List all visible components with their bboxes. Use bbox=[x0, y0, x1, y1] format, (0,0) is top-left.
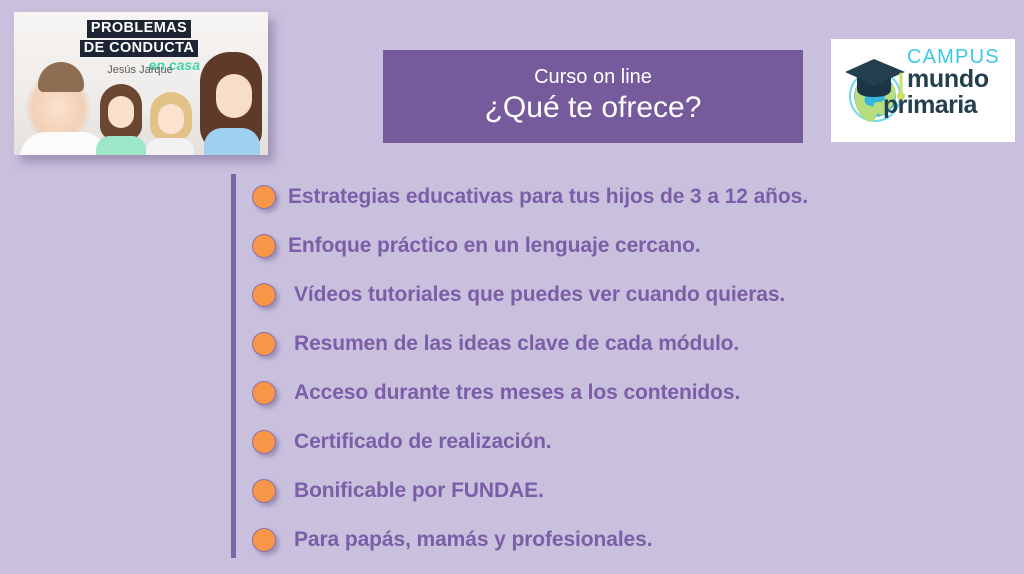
list-item: Estrategias educativas para tus hijos de… bbox=[252, 172, 1012, 221]
title-banner: Curso on line ¿Qué te ofrece? bbox=[383, 50, 803, 143]
photo-girl-top bbox=[96, 136, 146, 155]
photo-mother-top bbox=[204, 128, 260, 155]
list-item-label: Vídeos tutoriales que puedes ver cuando … bbox=[288, 283, 785, 307]
photo-mother-face bbox=[216, 74, 252, 118]
list-item-label: Estrategias educativas para tus hijos de… bbox=[288, 185, 808, 209]
photo-girl-face bbox=[108, 96, 134, 128]
slide-canvas: PROBLEMAS DE CONDUCTA en casa Jesús Jarq… bbox=[0, 0, 1024, 574]
photo-toddler-top bbox=[146, 138, 194, 155]
list-item: Certificado de realización. bbox=[252, 417, 1012, 466]
cover-author: Jesús Jarque bbox=[80, 64, 200, 76]
cover-title-line1: PROBLEMAS bbox=[87, 20, 191, 38]
list-item: Bonificable por FUNDAE. bbox=[252, 466, 1012, 515]
campus-mundo-primaria-logo: CAMPUS mundo primaria bbox=[831, 39, 1015, 142]
logo-campus-text: CAMPUS bbox=[907, 47, 1015, 67]
list-item: Para papás, mamás y profesionales. bbox=[252, 515, 1012, 564]
orange-circle-bullet-icon bbox=[252, 528, 276, 552]
orange-circle-bullet-icon bbox=[252, 185, 276, 209]
list-item: Resumen de las ideas clave de cada módul… bbox=[252, 319, 1012, 368]
list-item-label: Certificado de realización. bbox=[288, 430, 552, 454]
photo-toddler-face bbox=[158, 104, 184, 134]
orange-circle-bullet-icon bbox=[252, 479, 276, 503]
list-item: Enfoque práctico en un lenguaje cercano. bbox=[252, 221, 1012, 270]
orange-circle-bullet-icon bbox=[252, 283, 276, 307]
logo-mundo-text: mundo bbox=[907, 67, 1015, 93]
orange-circle-bullet-icon bbox=[252, 430, 276, 454]
list-item-label: Para papás, mamás y profesionales. bbox=[288, 528, 652, 552]
logo-wordmark: CAMPUS mundo primaria bbox=[907, 47, 1015, 118]
orange-circle-bullet-icon bbox=[252, 332, 276, 356]
list-item-label: Resumen de las ideas clave de cada módul… bbox=[288, 332, 739, 356]
banner-subtitle: Curso on line bbox=[534, 67, 652, 89]
list-accent-bar bbox=[231, 174, 236, 558]
list-item-label: Enfoque práctico en un lenguaje cercano. bbox=[288, 234, 701, 258]
photo-father-shirt bbox=[20, 132, 108, 155]
orange-circle-bullet-icon bbox=[252, 234, 276, 258]
list-item-label: Acceso durante tres meses a los contenid… bbox=[288, 381, 740, 405]
list-item: Vídeos tutoriales que puedes ver cuando … bbox=[252, 270, 1012, 319]
list-item-label: Bonificable por FUNDAE. bbox=[288, 479, 544, 503]
orange-circle-bullet-icon bbox=[252, 381, 276, 405]
course-cover-image: PROBLEMAS DE CONDUCTA en casa Jesús Jarq… bbox=[14, 12, 268, 155]
cover-title-line2: DE CONDUCTA bbox=[80, 40, 198, 58]
benefits-list: Estrategias educativas para tus hijos de… bbox=[252, 172, 1012, 564]
banner-title: ¿Qué te ofrece? bbox=[485, 90, 702, 126]
list-item: Acceso durante tres meses a los contenid… bbox=[252, 368, 1012, 417]
logo-primaria-text: primaria bbox=[883, 93, 1015, 119]
